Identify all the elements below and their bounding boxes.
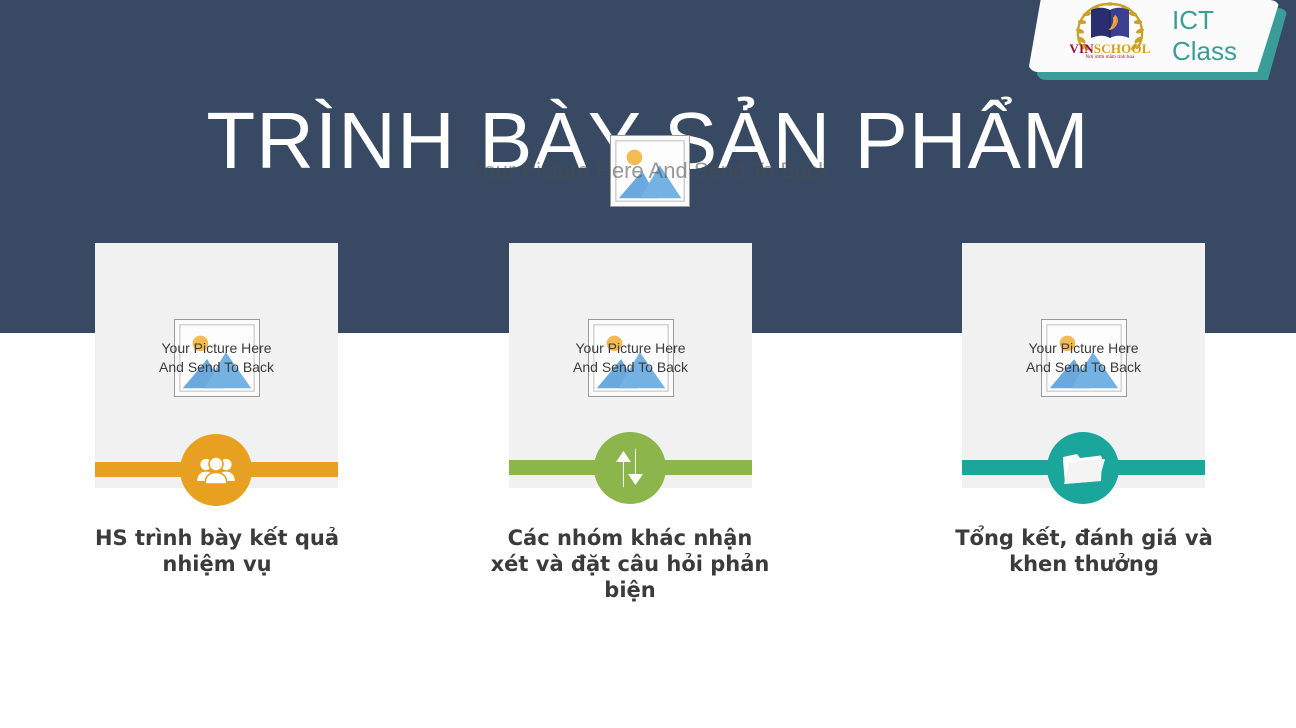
open-book-icon: [1089, 6, 1131, 40]
title-picture-placeholder[interactable]: Your Picture Here And Send To Back: [400, 135, 900, 207]
image-placeholder-icon: [175, 320, 259, 396]
logo-word-school: SCHOOL: [1094, 41, 1151, 56]
card-caption: HS trình bày kết quả nhiệm vụ: [77, 525, 357, 577]
card-badge[interactable]: [594, 432, 666, 504]
card-caption: Các nhóm khác nhận xét và đặt câu hỏi ph…: [490, 525, 770, 603]
logo-word-vin: VIN: [1069, 41, 1093, 56]
presentation-slide: VINSCHOOL Nơi ươm mầm tinh hoa ICT Class…: [0, 0, 1296, 728]
picture-frame: [588, 319, 674, 397]
card-badge[interactable]: [1047, 432, 1119, 504]
card-picture-placeholder[interactable]: Your Picture HereAnd Send To Back: [95, 303, 338, 413]
picture-frame: [610, 135, 690, 207]
vinschool-logo: VINSCHOOL Nơi ươm mầm tinh hoa: [1064, 1, 1156, 71]
folder-icon: [1061, 450, 1105, 486]
card-picture-placeholder[interactable]: Your Picture HereAnd Send To Back: [962, 303, 1205, 413]
card-badge[interactable]: [180, 434, 252, 506]
picture-frame: [1041, 319, 1127, 397]
brand-banner: VINSCHOOL Nơi ươm mầm tinh hoa ICT Class: [1024, 0, 1292, 80]
card-caption: Tổng kết, đánh giá và khen thưởng: [944, 525, 1224, 577]
banner-label: ICT Class: [1172, 5, 1280, 67]
group-people-icon: [196, 455, 236, 485]
exchange-arrows-icon: [613, 449, 647, 487]
logo-tagline: Nơi ươm mầm tinh hoa: [1064, 55, 1156, 60]
picture-frame: [174, 319, 260, 397]
image-placeholder-icon: [589, 320, 673, 396]
card-picture-placeholder[interactable]: Your Picture HereAnd Send To Back: [509, 303, 752, 413]
image-placeholder-icon: [1042, 320, 1126, 396]
image-placeholder-icon: [611, 136, 689, 206]
